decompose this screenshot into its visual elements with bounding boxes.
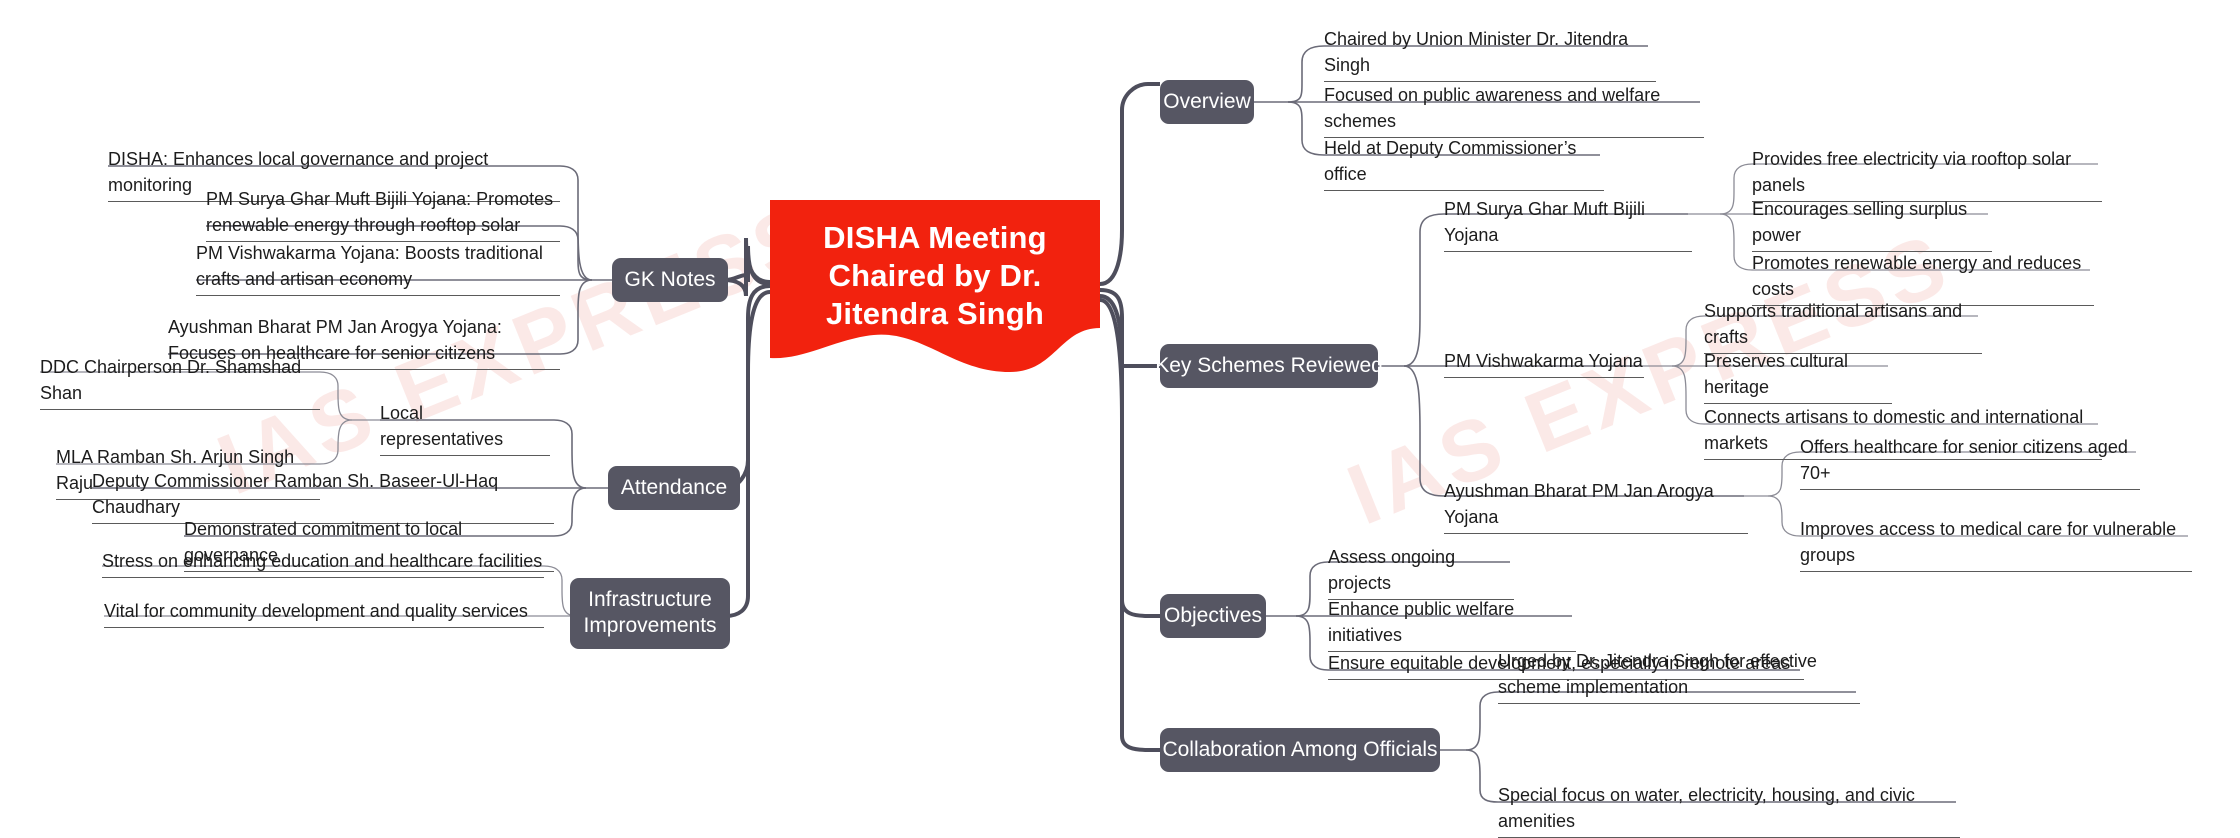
branch-node-overview[interactable]: Overview: [1160, 80, 1254, 124]
branch-node-attendance[interactable]: Attendance: [608, 466, 740, 510]
leaf-surya-2[interactable]: Encourages selling surplus power: [1752, 196, 1992, 252]
leaf-infra-2[interactable]: Vital for community development and qual…: [104, 598, 544, 628]
subnode-local-representatives[interactable]: Local representatives: [380, 400, 550, 456]
leaf-vishwakarma-1[interactable]: Supports traditional artisans and crafts: [1704, 298, 1982, 354]
branch-node-key-schemes[interactable]: Key Schemes Reviewed: [1160, 344, 1378, 388]
branch-node-gk-notes[interactable]: GK Notes: [612, 258, 728, 302]
leaf-local-rep-1[interactable]: DDC Chairperson Dr. Shamshad Shan: [40, 354, 320, 410]
leaf-collaboration-1[interactable]: Urged by Dr. Jitendra Singh for effectiv…: [1498, 648, 1860, 704]
leaf-gk-2[interactable]: PM Surya Ghar Muft Bijili Yojana: Promot…: [206, 186, 560, 242]
branch-node-infrastructure[interactable]: Infrastructure Improvements: [570, 578, 730, 649]
mindmap-canvas: IAS EXPRESS IAS EXPRESS: [0, 0, 2240, 808]
leaf-ayushman-1[interactable]: Offers healthcare for senior citizens ag…: [1800, 434, 2140, 490]
leaf-surya-1[interactable]: Provides free electricity via rooftop so…: [1752, 146, 2102, 202]
leaf-objectives-1[interactable]: Assess ongoing projects: [1328, 544, 1514, 600]
leaf-collaboration-2[interactable]: Special focus on water, electricity, hou…: [1498, 782, 1960, 838]
subnode-vishwakarma[interactable]: PM Vishwakarma Yojana: [1444, 348, 1644, 378]
leaf-gk-3[interactable]: PM Vishwakarma Yojana: Boosts traditiona…: [196, 240, 560, 296]
root-node[interactable]: DISHA Meeting Chaired by Dr. Jitendra Si…: [770, 200, 1100, 368]
leaf-overview-1[interactable]: Chaired by Union Minister Dr. Jitendra S…: [1324, 26, 1656, 82]
leaf-infra-1[interactable]: Stress on enhancing education and health…: [102, 548, 544, 578]
root-title: DISHA Meeting Chaired by Dr. Jitendra Si…: [770, 200, 1100, 352]
leaf-objectives-2[interactable]: Enhance public welfare initiatives: [1328, 596, 1576, 652]
subnode-surya-ghar[interactable]: PM Surya Ghar Muft Bijili Yojana: [1444, 196, 1692, 252]
branch-node-objectives[interactable]: Objectives: [1160, 594, 1266, 638]
subnode-ayushman[interactable]: Ayushman Bharat PM Jan Arogya Yojana: [1444, 478, 1748, 534]
branch-node-collaboration[interactable]: Collaboration Among Officials: [1160, 728, 1440, 772]
leaf-vishwakarma-2[interactable]: Preserves cultural heritage: [1704, 348, 1892, 404]
leaf-overview-3[interactable]: Held at Deputy Commissioner’s office: [1324, 135, 1604, 191]
leaf-ayushman-2[interactable]: Improves access to medical care for vuln…: [1800, 516, 2192, 572]
leaf-overview-2[interactable]: Focused on public awareness and welfare …: [1324, 82, 1704, 138]
